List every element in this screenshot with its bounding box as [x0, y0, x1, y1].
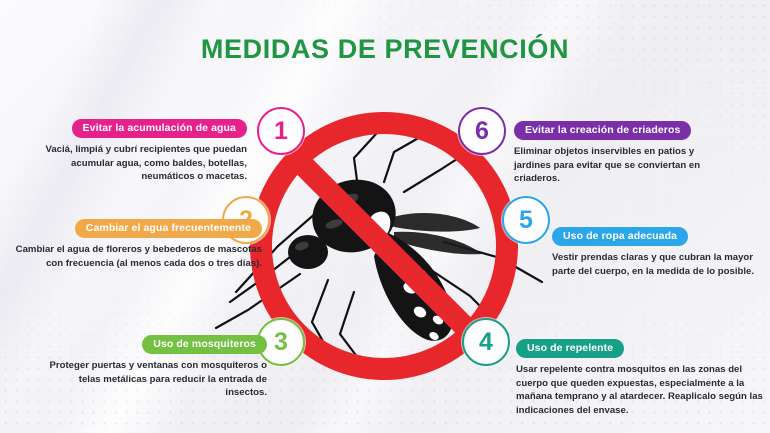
body-text-4: Usar repelente contra mosquitos en las z…	[516, 363, 764, 417]
number-circle-5: 5	[502, 196, 550, 244]
badge-label-6: Evitar la creación de criaderos	[514, 121, 691, 140]
badge-row-2: Cambiar el agua frecuentemente	[12, 218, 262, 238]
number-circle-6: 6	[458, 107, 506, 155]
badge-row-1: Evitar la acumulación de agua	[22, 118, 247, 138]
badge-label-1: Evitar la acumulación de agua	[72, 119, 247, 138]
body-text-2: Cambiar el agua de floreros y bebederos …	[12, 243, 262, 270]
number-label-1: 1	[274, 119, 288, 144]
number-circle-1: 1	[257, 107, 305, 155]
number-label-6: 6	[475, 119, 489, 144]
prevention-item-2: Cambiar el agua frecuentemente Cambiar e…	[12, 218, 262, 270]
badge-label-4: Uso de repelente	[516, 339, 624, 358]
body-text-1: Vaciá, limpiá y cubrí recipientes que pu…	[22, 143, 247, 184]
prevention-item-1: Evitar la acumulación de agua Vaciá, lim…	[22, 118, 247, 184]
prevention-item-6: Evitar la creación de criaderos Eliminar…	[514, 120, 714, 186]
number-circle-4: 4	[462, 318, 510, 366]
number-label-4: 4	[479, 330, 493, 355]
prevention-item-4: Uso de repelente Usar repelente contra m…	[516, 338, 764, 417]
page-title: MEDIDAS DE PREVENCIÓN	[0, 34, 770, 65]
body-text-3: Proteger puertas y ventanas con mosquite…	[42, 359, 267, 400]
badge-label-3: Uso de mosquiteros	[142, 335, 267, 354]
prevention-infographic: MEDIDAS DE PREVENCIÓN	[0, 0, 770, 433]
badge-row-5: Uso de ropa adecuada	[552, 226, 764, 246]
badge-row-4: Uso de repelente	[516, 338, 764, 358]
badge-row-6: Evitar la creación de criaderos	[514, 120, 714, 140]
prevention-item-3: Uso de mosquiteros Proteger puertas y ve…	[42, 334, 267, 400]
number-label-5: 5	[519, 208, 533, 233]
badge-label-2: Cambiar el agua frecuentemente	[75, 219, 262, 238]
prevention-item-5: Uso de ropa adecuada Vestir prendas clar…	[552, 226, 764, 278]
badge-label-5: Uso de ropa adecuada	[552, 227, 688, 246]
badge-row-3: Uso de mosquiteros	[42, 334, 267, 354]
number-label-3: 3	[274, 330, 288, 355]
body-text-6: Eliminar objetos inservibles en patios y…	[514, 145, 714, 186]
body-text-5: Vestir prendas claras y que cubran la ma…	[552, 251, 764, 278]
